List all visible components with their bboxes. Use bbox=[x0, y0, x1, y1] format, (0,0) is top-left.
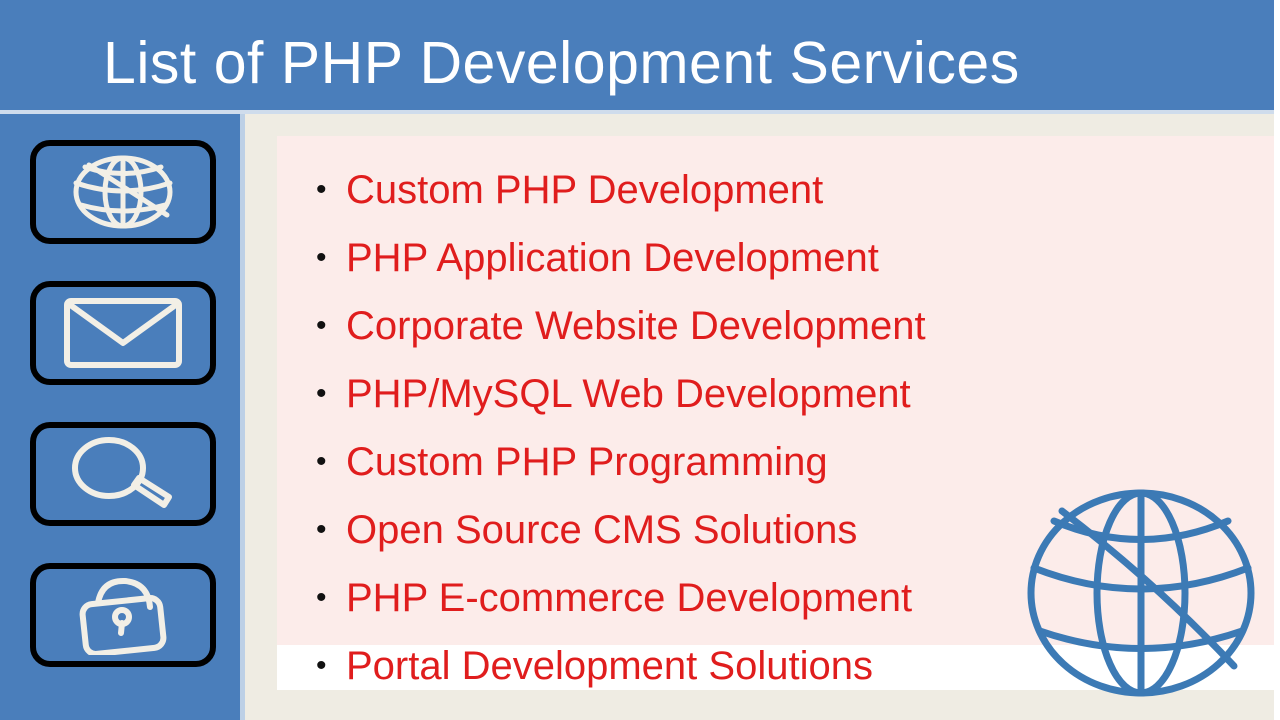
services-list: • Custom PHP Development • PHP Applicati… bbox=[310, 156, 1280, 700]
list-item-label: Open Source CMS Solutions bbox=[334, 507, 857, 553]
lock-icon bbox=[68, 575, 178, 655]
list-item[interactable]: • Open Source CMS Solutions bbox=[310, 496, 1280, 564]
bullet-marker: • bbox=[310, 175, 334, 205]
list-item-label: Portal Development Solutions bbox=[334, 643, 873, 689]
bullet-marker: • bbox=[310, 243, 334, 273]
slide-canvas: List of PHP Development Services bbox=[0, 0, 1280, 720]
list-item-label: Custom PHP Development bbox=[334, 167, 823, 213]
list-item-label: PHP Application Development bbox=[334, 235, 879, 281]
bullet-marker: • bbox=[310, 379, 334, 409]
sidebar-item-search[interactable] bbox=[30, 422, 216, 526]
sidebar-divider bbox=[240, 114, 245, 720]
list-item[interactable]: • Custom PHP Programming bbox=[310, 428, 1280, 496]
list-item-label: Custom PHP Programming bbox=[334, 439, 828, 485]
list-item[interactable]: • PHP Application Development bbox=[310, 224, 1280, 292]
envelope-icon bbox=[62, 295, 184, 371]
sidebar-item-security[interactable] bbox=[30, 563, 216, 667]
page-title: List of PHP Development Services bbox=[103, 27, 1020, 99]
bullet-marker: • bbox=[310, 311, 334, 341]
bullet-marker: • bbox=[310, 515, 334, 545]
magnifier-icon bbox=[63, 435, 183, 513]
list-item[interactable]: • Custom PHP Development bbox=[310, 156, 1280, 224]
icon-sidebar bbox=[0, 114, 240, 720]
bullet-marker: • bbox=[310, 447, 334, 477]
list-item-label: PHP E-commerce Development bbox=[334, 575, 912, 621]
sidebar-item-globe[interactable] bbox=[30, 140, 216, 244]
bullet-marker: • bbox=[310, 583, 334, 613]
list-item-label: PHP/MySQL Web Development bbox=[334, 371, 911, 417]
globe-icon bbox=[63, 153, 183, 231]
right-edge-strip bbox=[1274, 0, 1280, 720]
sidebar-item-mail[interactable] bbox=[30, 281, 216, 385]
list-item[interactable]: • PHP E-commerce Development bbox=[310, 564, 1280, 632]
bullet-marker: • bbox=[310, 651, 334, 681]
list-item[interactable]: • PHP/MySQL Web Development bbox=[310, 360, 1280, 428]
list-item[interactable]: • Corporate Website Development bbox=[310, 292, 1280, 360]
list-item[interactable]: • Portal Development Solutions bbox=[310, 632, 1280, 700]
list-item-label: Corporate Website Development bbox=[334, 303, 926, 349]
